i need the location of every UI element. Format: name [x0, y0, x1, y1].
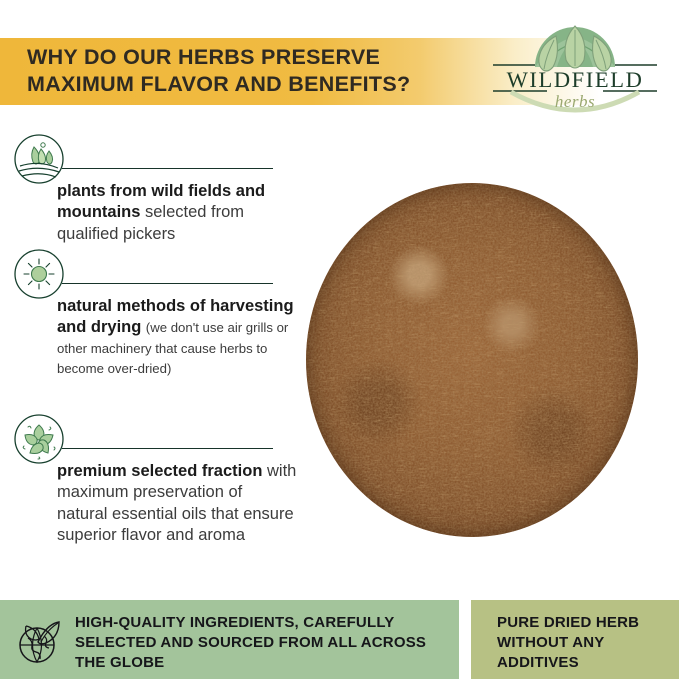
sun-drying-icon — [13, 248, 65, 300]
feature-text-2: natural methods of harvesting and drying… — [57, 296, 297, 380]
feature-text-3: premium selected fraction with maximum p… — [57, 461, 297, 547]
globe-leaf-icon — [14, 616, 66, 666]
feature-divider — [62, 283, 273, 284]
page-title: WHY DO OUR HERBS PRESERVE MAXIMUM FLAVOR… — [27, 44, 457, 98]
infographic-page: WHY DO OUR HERBS PRESERVE MAXIMUM FLAVOR… — [0, 0, 679, 679]
herb-flower-icon — [13, 413, 65, 465]
feature-text-1: plants from wild fields and mountains se… — [57, 181, 297, 245]
product-edge-shadow — [306, 183, 638, 537]
product-image — [306, 183, 638, 537]
brand-logo: WILDFIELD herbs — [485, 20, 665, 118]
banner-global-sourcing: HIGH-QUALITY INGREDIENTS, CAREFULLY SELE… — [0, 600, 459, 679]
feature-lead-3: premium selected fraction — [57, 462, 262, 480]
feature-divider — [62, 168, 273, 169]
banner-left-text: HIGH-QUALITY INGREDIENTS, CAREFULLY SELE… — [75, 613, 450, 673]
banner-pure-dried: PURE DRIED HERB WITHOUT ANY ADDITIVES — [471, 600, 679, 679]
logo-tagline: herbs — [485, 92, 665, 112]
banner-right-text: PURE DRIED HERB WITHOUT ANY ADDITIVES — [497, 613, 677, 673]
wild-field-plants-icon — [13, 133, 65, 185]
logo-wordmark: WILDFIELD — [485, 67, 665, 93]
feature-divider — [62, 448, 273, 449]
